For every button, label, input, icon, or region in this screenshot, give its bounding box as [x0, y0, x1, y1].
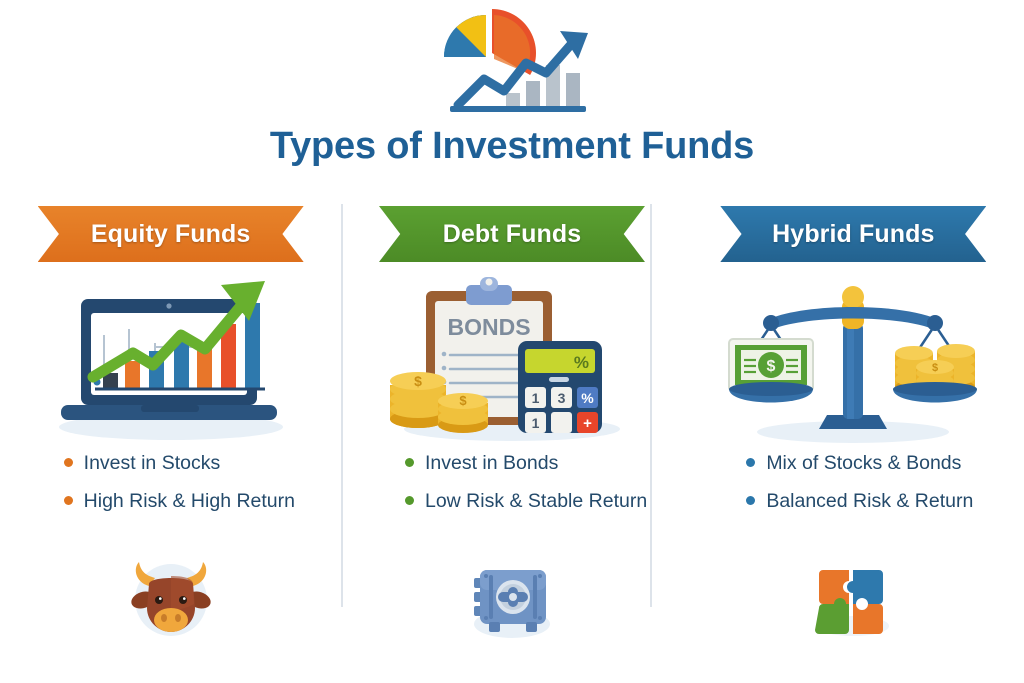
- svg-text:$: $: [932, 362, 938, 374]
- footer-icon-debt: [457, 557, 567, 643]
- bullet-label: Low Risk & Stable Return: [425, 490, 647, 512]
- list-item: Balanced Risk & Return: [746, 490, 988, 512]
- illustration-equity-laptop-chart: [21, 276, 321, 446]
- banner-debt-funds: Debt Funds: [379, 206, 645, 262]
- calculator-display-text: %: [574, 353, 589, 372]
- infographic-page: Types of Investment Funds Equity Funds: [0, 0, 1024, 683]
- clipboard-title-text: BONDS: [447, 314, 530, 340]
- illustration-debt-bonds-calculator: BONDS: [362, 276, 662, 446]
- bullet-label: High Risk & High Return: [84, 490, 295, 512]
- svg-text:+: +: [583, 415, 592, 432]
- illustration-hybrid-balance-scale: $: [703, 276, 1003, 446]
- bull-head-icon: [119, 556, 223, 645]
- banner-equity-funds: Equity Funds: [38, 206, 304, 262]
- banner-label-debt: Debt Funds: [443, 220, 582, 249]
- bullet-dot-icon: [64, 496, 73, 505]
- column-equity-funds: Equity Funds: [0, 200, 341, 665]
- banner-label-equity: Equity Funds: [91, 220, 251, 249]
- bullet-list-debt: Invest in Bonds Low Risk & Stable Return: [377, 452, 647, 529]
- footer-icon-hybrid: [798, 557, 908, 643]
- svg-text:1: 1: [532, 390, 540, 406]
- bullet-dot-icon: [746, 458, 755, 467]
- svg-text:1: 1: [532, 415, 540, 431]
- bullet-label: Invest in Stocks: [84, 452, 221, 474]
- bullet-list-hybrid: Mix of Stocks & Bonds Balanced Risk & Re…: [718, 452, 988, 529]
- svg-text:$: $: [414, 373, 422, 389]
- safe-vault-icon: [460, 556, 564, 645]
- banner-label-hybrid: Hybrid Funds: [772, 220, 934, 249]
- puzzle-pieces-icon: [801, 556, 905, 645]
- bullet-list-equity: Invest in Stocks High Risk & High Return: [36, 452, 306, 529]
- list-item: Invest in Stocks: [64, 452, 306, 474]
- banknote-dollar-text: $: [767, 358, 776, 375]
- page-title: Types of Investment Funds: [0, 126, 1024, 168]
- bullet-dot-icon: [64, 458, 73, 467]
- banner-hybrid-funds: Hybrid Funds: [720, 206, 986, 262]
- bullet-label: Mix of Stocks & Bonds: [766, 452, 961, 474]
- svg-text:$: $: [459, 393, 467, 408]
- bullet-dot-icon: [405, 458, 414, 467]
- header-icon-container: [0, 8, 1024, 118]
- bullet-label: Invest in Bonds: [425, 452, 558, 474]
- bullet-label: Balanced Risk & Return: [766, 490, 973, 512]
- list-item: Invest in Bonds: [405, 452, 647, 474]
- pie-chart-growth-icon: [422, 7, 602, 120]
- svg-text:%: %: [581, 390, 594, 406]
- list-item: Low Risk & Stable Return: [405, 490, 647, 512]
- bullet-dot-icon: [746, 496, 755, 505]
- column-hybrid-funds: Hybrid Funds: [683, 200, 1024, 665]
- list-item: Mix of Stocks & Bonds: [746, 452, 988, 474]
- bullet-dot-icon: [405, 496, 414, 505]
- svg-text:3: 3: [558, 390, 566, 406]
- footer-icon-equity: [116, 557, 226, 643]
- fund-type-columns: Equity Funds: [0, 200, 1024, 665]
- list-item: High Risk & High Return: [64, 490, 306, 512]
- column-debt-funds: Debt Funds BONDS: [341, 200, 682, 665]
